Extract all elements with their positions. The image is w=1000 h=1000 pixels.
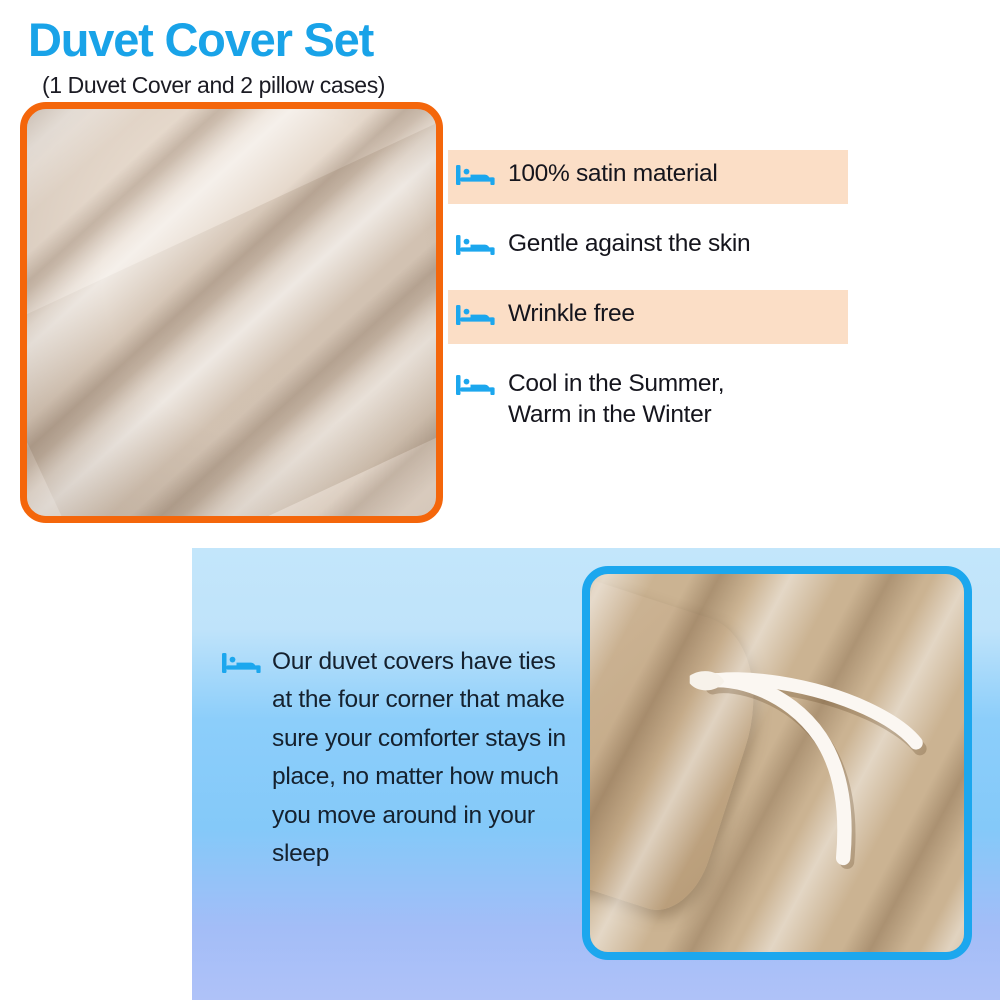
- feature-item-wrinkle-free: Wrinkle free: [448, 290, 848, 344]
- page-subtitle: (1 Duvet Cover and 2 pillow cases): [42, 72, 385, 99]
- duvet-tie-image: [582, 566, 972, 960]
- bed-icon: [456, 302, 496, 328]
- ribbon-shadow: [713, 685, 920, 862]
- feature-list: 100% satin material Gentle against the s…: [448, 150, 848, 455]
- tie-description-text: Our duvet covers have ties at the four c…: [272, 643, 572, 874]
- tie-feature-panel: Our duvet covers have ties at the four c…: [192, 548, 1000, 1000]
- feature-item-temperature: Cool in the Summer, Warm in the Winter: [448, 360, 848, 439]
- page-title: Duvet Cover Set: [28, 16, 373, 63]
- ribbon-ties-group: [590, 574, 964, 952]
- satin-vignette: [27, 109, 436, 516]
- feature-label: Wrinkle free: [508, 298, 635, 329]
- feature-label: 100% satin material: [508, 158, 717, 189]
- feature-label: Cool in the Summer, Warm in the Winter: [508, 368, 724, 431]
- bed-icon: [456, 372, 496, 398]
- bed-icon: [222, 650, 262, 676]
- bed-icon: [456, 232, 496, 258]
- feature-label: Gentle against the skin: [508, 228, 750, 259]
- satin-fabric-image: [20, 102, 443, 523]
- bed-icon: [456, 162, 496, 188]
- tie-description-block: Our duvet covers have ties at the four c…: [222, 643, 572, 874]
- feature-item-gentle-skin: Gentle against the skin: [448, 220, 848, 274]
- feature-item-satin-material: 100% satin material: [448, 150, 848, 204]
